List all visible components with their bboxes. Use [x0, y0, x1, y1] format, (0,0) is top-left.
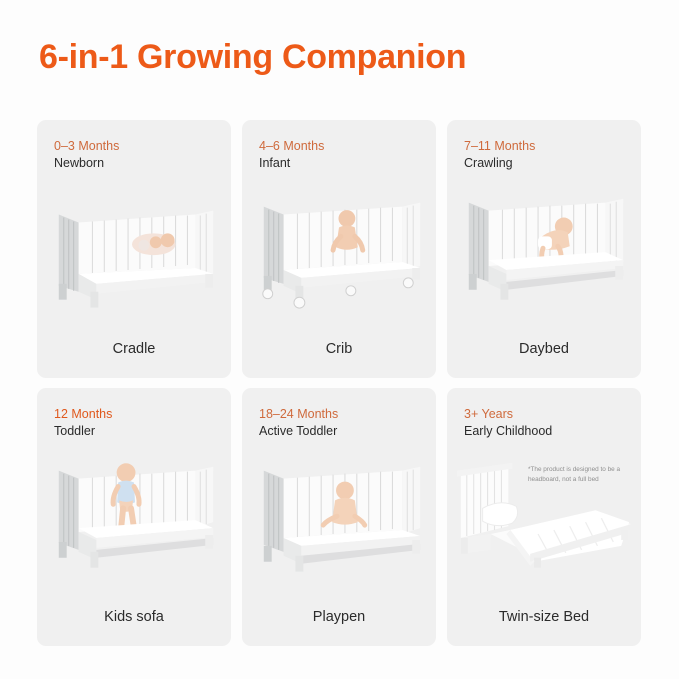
- card-header: 4–6 Months Infant: [242, 120, 436, 171]
- stage-label: Newborn: [54, 155, 231, 172]
- product-image-kids-sofa: [37, 439, 231, 609]
- stage-label: Active Toddler: [259, 423, 436, 440]
- card-header: 7–11 Months Crawling: [447, 120, 641, 171]
- stage-label: Infant: [259, 155, 436, 172]
- crib-icon: [242, 171, 436, 319]
- product-image-playpen: [242, 439, 436, 609]
- age-range-label: 7–11 Months: [464, 138, 641, 155]
- product-caption: Twin-size Bed: [447, 609, 641, 646]
- card-header: 0–3 Months Newborn: [37, 120, 231, 171]
- page-title: 6-in-1 Growing Companion: [39, 38, 466, 77]
- stage-label: Crawling: [464, 155, 641, 172]
- product-image-daybed: [447, 171, 641, 341]
- product-image-cradle: [37, 171, 231, 341]
- stage-label: Early Childhood: [464, 423, 641, 440]
- stage-label: Toddler: [54, 423, 231, 440]
- kids-sofa-icon: [37, 439, 231, 587]
- cradle-icon: [37, 171, 231, 319]
- age-range-label: 18–24 Months: [259, 406, 436, 423]
- product-caption: Playpen: [242, 609, 436, 646]
- playpen-icon: [242, 439, 436, 587]
- stage-card-daybed[interactable]: 7–11 Months Crawling: [447, 120, 641, 378]
- card-header: 12 Months Toddler: [37, 388, 231, 439]
- stage-card-crib[interactable]: 4–6 Months Infant: [242, 120, 436, 378]
- stage-card-twin-bed[interactable]: 3+ Years Early Childhood: [447, 388, 641, 646]
- twin-bed-icon: [447, 439, 641, 587]
- stage-card-playpen[interactable]: 18–24 Months Active Toddler: [242, 388, 436, 646]
- age-range-label: 3+ Years: [464, 406, 641, 423]
- product-caption: Kids sofa: [37, 609, 231, 646]
- age-range-label: 4–6 Months: [259, 138, 436, 155]
- card-header: 3+ Years Early Childhood: [447, 388, 641, 439]
- stage-card-cradle[interactable]: 0–3 Months Newborn: [37, 120, 231, 378]
- product-caption: Crib: [242, 341, 436, 378]
- product-feature-page: 6-in-1 Growing Companion 0–3 Months Newb…: [0, 0, 679, 679]
- product-caption: Daybed: [447, 341, 641, 378]
- product-image-twin-bed: *The product is designed to be a headboa…: [447, 439, 641, 609]
- stage-card-kids-sofa[interactable]: 12 Months Toddler: [37, 388, 231, 646]
- card-header: 18–24 Months Active Toddler: [242, 388, 436, 439]
- daybed-icon: [447, 171, 641, 319]
- age-range-label: 12 Months: [54, 406, 231, 423]
- stage-card-grid: 0–3 Months Newborn: [37, 120, 641, 646]
- product-caption: Cradle: [37, 341, 231, 378]
- headboard-disclaimer-note: *The product is designed to be a headboa…: [528, 465, 632, 484]
- product-image-crib: [242, 171, 436, 341]
- age-range-label: 0–3 Months: [54, 138, 231, 155]
